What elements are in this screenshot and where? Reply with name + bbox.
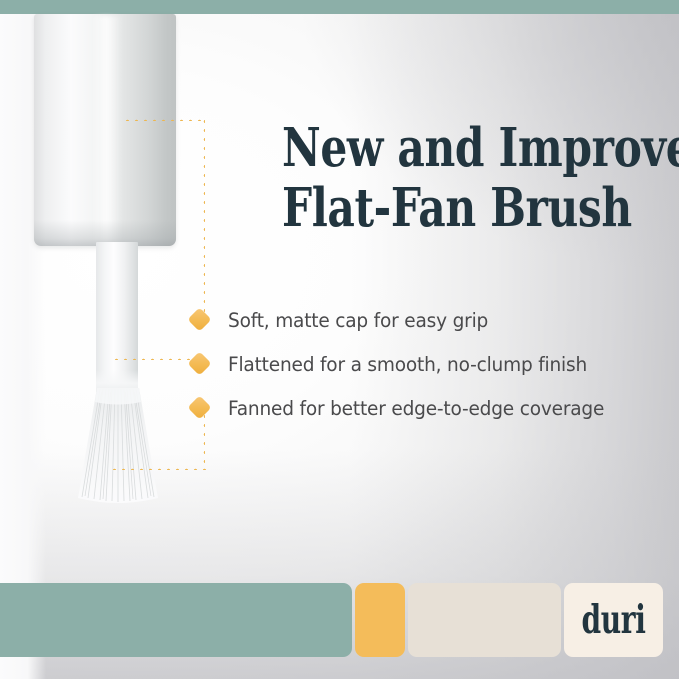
- brush-bristles: [66, 386, 170, 504]
- leader-line-cap-horizontal: [123, 117, 205, 121]
- gold-diamond-icon: [188, 308, 212, 332]
- list-item: Fanned for better edge-to-edge coverage: [188, 386, 658, 430]
- feature-text: Soft, matte cap for easy grip: [228, 309, 488, 332]
- footer-swatch-bar: duri: [0, 583, 679, 657]
- brush-stem: [96, 242, 138, 388]
- swatch-beige: [408, 583, 561, 657]
- swatch-sage: [0, 583, 352, 657]
- headline-line-2: Flat-Fan Brush: [282, 178, 594, 238]
- headline-line-1: New and Improved: [282, 118, 594, 178]
- feature-text: Flattened for a smooth, no-clump finish: [228, 353, 587, 376]
- headline: New and Improved Flat-Fan Brush: [282, 118, 672, 238]
- leader-line-bristles-horizontal: [110, 466, 206, 470]
- cap-highlight: [92, 16, 122, 244]
- gold-diamond-icon: [188, 352, 212, 376]
- brand-logo: duri: [581, 601, 645, 640]
- gold-diamond-icon: [188, 396, 212, 420]
- brush-cap: [34, 14, 176, 246]
- swatch-cream: duri: [564, 583, 663, 657]
- leader-line-vertical-spine: [201, 117, 205, 313]
- feature-list: Soft, matte cap for easy grip Flattened …: [188, 298, 658, 430]
- sage-top-band: [0, 0, 679, 14]
- feature-text: Fanned for better edge-to-edge coverage: [228, 397, 604, 420]
- swatch-gold: [355, 583, 405, 657]
- list-item: Soft, matte cap for easy grip: [188, 298, 658, 342]
- list-item: Flattened for a smooth, no-clump finish: [188, 342, 658, 386]
- product-feature-banner: New and Improved Flat-Fan Brush Soft, ma…: [0, 0, 679, 679]
